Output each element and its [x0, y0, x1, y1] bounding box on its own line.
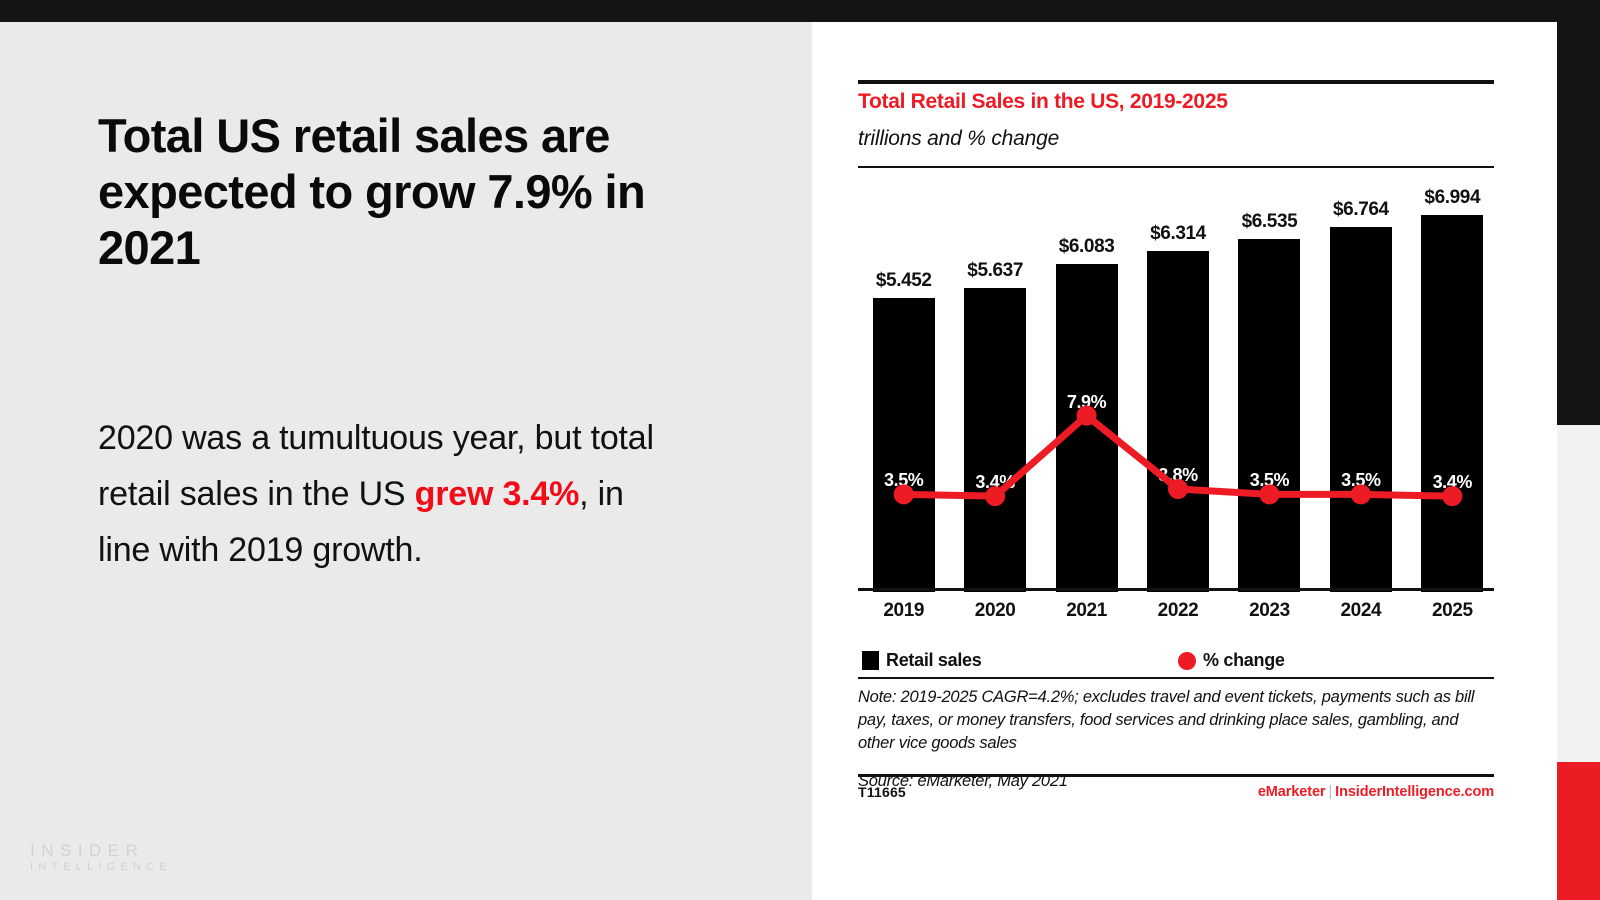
- x-label-2024: 2024: [1321, 600, 1401, 622]
- percent-change-point-2025: [1442, 486, 1462, 506]
- x-label-2021: 2021: [1047, 600, 1127, 622]
- rule-under-title: [858, 166, 1494, 168]
- headline: Total US retail sales are expected to gr…: [98, 108, 698, 276]
- x-axis-line: [858, 588, 1494, 591]
- chart-subtitle: trillions and % change: [858, 127, 1498, 151]
- chart-title: Total Retail Sales in the US, 2019-2025: [858, 90, 1498, 114]
- legend-item-retail-sales: Retail sales: [862, 650, 981, 671]
- chart-footer: T11665 eMarketer|InsiderIntelligence.com: [858, 784, 1494, 808]
- logo-line-insider: INSIDER: [30, 840, 172, 861]
- legend-label-percent-change: % change: [1203, 650, 1285, 671]
- chart-legend: Retail sales % change: [858, 650, 1498, 680]
- legend-label-retail-sales: Retail sales: [886, 650, 981, 671]
- right-edge-dark-strip: [1557, 0, 1600, 425]
- logo-line-intelligence: INTELLIGENCE: [30, 861, 172, 875]
- footer-brand-emarketer: eMarketer: [1258, 784, 1326, 800]
- percent-change-point-2023: [1259, 484, 1279, 504]
- body-copy: 2020 was a tumultuous year, but total re…: [98, 410, 678, 578]
- percent-change-line: [858, 182, 1498, 592]
- body-copy-highlight: grew 3.4%: [415, 475, 580, 513]
- percent-change-point-2022: [1168, 479, 1188, 499]
- rule-above-note: [858, 677, 1494, 679]
- x-label-2019: 2019: [864, 600, 944, 622]
- x-label-2022: 2022: [1138, 600, 1218, 622]
- legend-item-percent-change: % change: [1178, 650, 1285, 671]
- footer-brand[interactable]: eMarketer|InsiderIntelligence.com: [1258, 784, 1494, 800]
- footer-site: InsiderIntelligence.com: [1335, 784, 1494, 800]
- legend-square-icon: [862, 651, 879, 670]
- x-label-2023: 2023: [1229, 600, 1309, 622]
- rule-above-footer: [858, 774, 1494, 777]
- right-edge-red-strip: [1557, 762, 1600, 900]
- chart-card: Total Retail Sales in the US, 2019-2025 …: [812, 22, 1557, 900]
- x-axis-labels: 2019202020212022202320242025: [858, 600, 1498, 630]
- left-text-panel: Total US retail sales are expected to gr…: [0, 22, 812, 900]
- insider-intelligence-logo: INSIDER INTELLIGENCE: [30, 840, 172, 875]
- percent-change-point-2019: [894, 484, 914, 504]
- top-bar: [0, 0, 1600, 22]
- x-label-2020: 2020: [955, 600, 1035, 622]
- percent-change-point-2020: [985, 486, 1005, 506]
- slide-root: Total US retail sales are expected to gr…: [0, 0, 1600, 900]
- chart-id: T11665: [858, 784, 906, 800]
- legend-circle-icon: [1178, 652, 1196, 670]
- footer-divider: |: [1325, 784, 1335, 800]
- chart-note: Note: 2019-2025 CAGR=4.2%; excludes trav…: [858, 686, 1498, 755]
- x-label-2025: 2025: [1412, 600, 1492, 622]
- right-edge-gray-strip: [1557, 425, 1600, 762]
- percent-change-point-2024: [1351, 484, 1371, 504]
- rule-top: [858, 80, 1494, 84]
- percent-change-point-2021: [1077, 406, 1097, 426]
